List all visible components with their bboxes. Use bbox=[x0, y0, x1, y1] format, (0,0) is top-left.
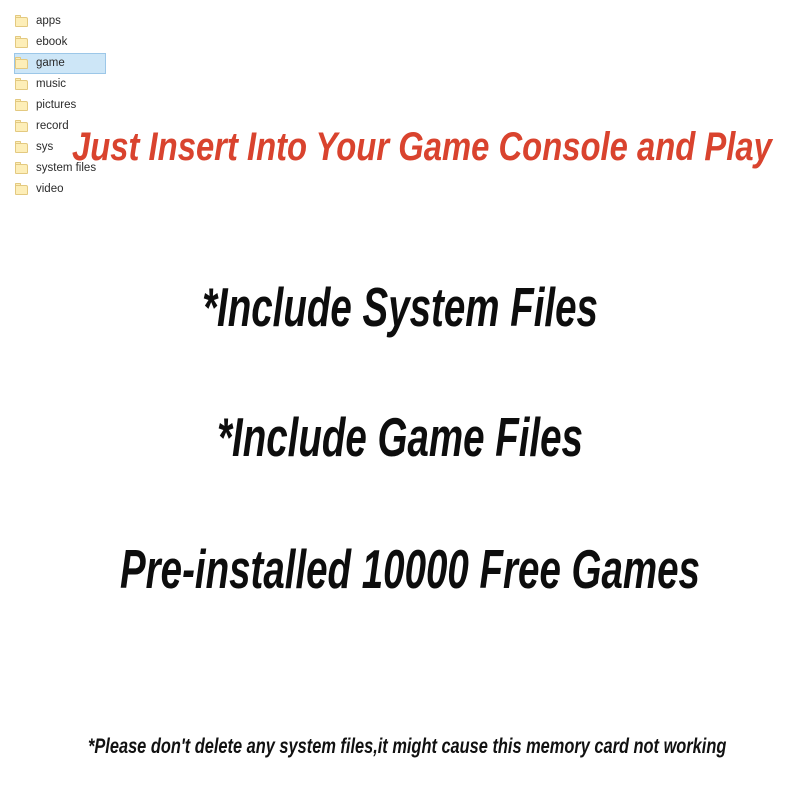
folder-icon bbox=[15, 36, 30, 49]
folder-label: sys bbox=[36, 141, 53, 154]
folder-icon bbox=[15, 78, 30, 91]
folder-icon bbox=[15, 120, 30, 133]
feature-preinstalled-free-games: Pre-installed 10000 Free Games bbox=[120, 538, 680, 600]
folder-label: apps bbox=[36, 15, 61, 28]
folder-row-ebook[interactable]: ebook bbox=[14, 32, 134, 53]
folder-label: pictures bbox=[36, 99, 76, 112]
folder-icon bbox=[15, 162, 30, 175]
folder-icon bbox=[15, 183, 30, 196]
folder-row-game[interactable]: game bbox=[14, 53, 106, 74]
folder-tree[interactable]: apps ebook game music pictures record bbox=[14, 11, 134, 200]
feature-include-system-files: *Include System Files bbox=[120, 276, 680, 338]
folder-row-pictures[interactable]: pictures bbox=[14, 95, 134, 116]
folder-icon bbox=[15, 141, 30, 154]
folder-label: ebook bbox=[36, 36, 67, 49]
folder-label: game bbox=[36, 57, 65, 70]
folder-row-apps[interactable]: apps bbox=[14, 11, 134, 32]
feature-include-game-files: *Include Game Files bbox=[120, 406, 680, 468]
folder-label: video bbox=[36, 183, 64, 196]
folder-icon bbox=[15, 15, 30, 28]
folder-icon bbox=[15, 57, 30, 70]
folder-label: record bbox=[36, 120, 69, 133]
folder-row-music[interactable]: music bbox=[14, 74, 134, 95]
folder-label: music bbox=[36, 78, 66, 91]
folder-icon bbox=[15, 99, 30, 112]
disclaimer-text: *Please don't delete any system files,it… bbox=[88, 734, 712, 760]
promo-headline: Just Insert Into Your Game Console and P… bbox=[72, 124, 728, 170]
folder-row-video[interactable]: video bbox=[14, 179, 134, 200]
